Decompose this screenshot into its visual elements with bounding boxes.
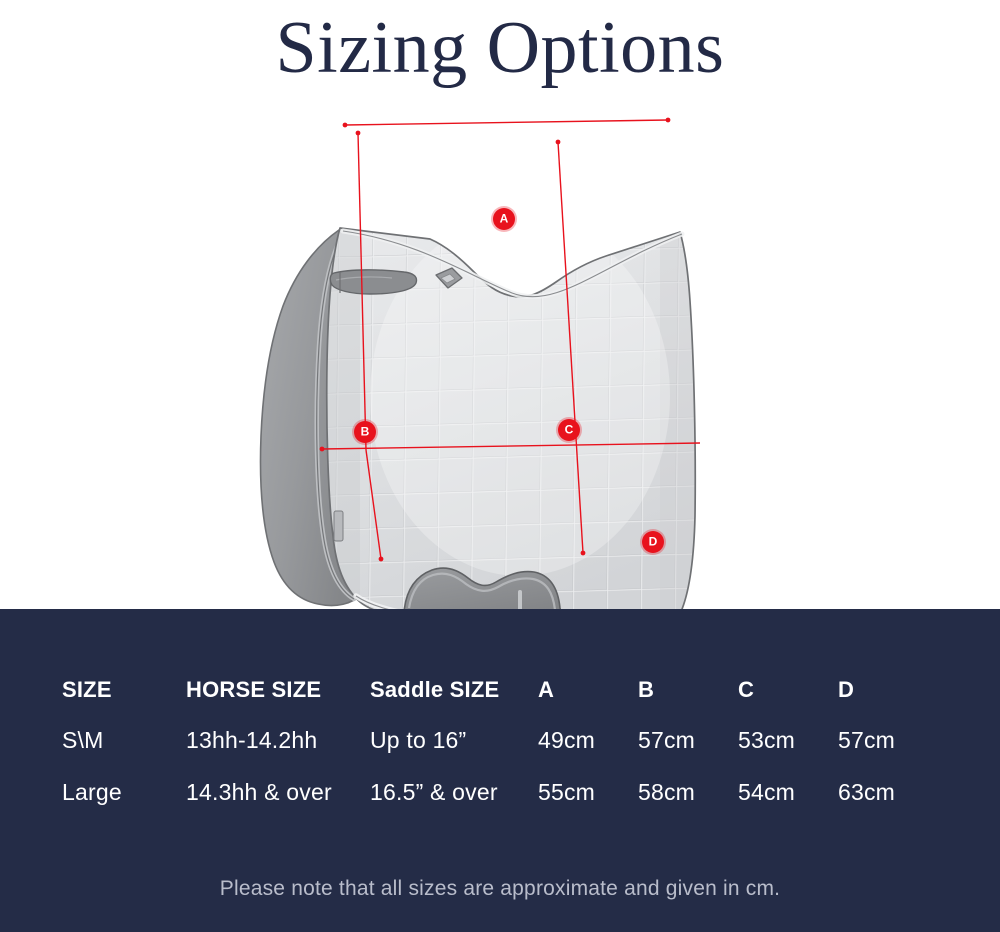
page-title-area: Sizing Options — [0, 0, 1000, 96]
saddle-pad-diagram: A B C D — [0, 96, 1000, 609]
column-header-c: C — [738, 666, 838, 714]
column-header-saddle-size: Saddle SIZE — [370, 666, 538, 714]
measurement-badge-d-label: D — [649, 536, 658, 548]
cell-d-1: 63cm — [838, 766, 938, 818]
cell-horse-size-1: 14.3hh & over — [186, 766, 370, 818]
cell-a-1: 55cm — [538, 766, 638, 818]
sizing-options-page: Sizing Options — [0, 0, 1000, 932]
measurement-badge-a: A — [493, 208, 515, 230]
cell-b-0: 57cm — [638, 714, 738, 766]
cell-size-0: S\M — [62, 714, 186, 766]
cell-d-0: 57cm — [838, 714, 938, 766]
cell-a-0: 49cm — [538, 714, 638, 766]
measurement-badge-a-label: A — [500, 213, 509, 225]
table-header-row: SIZE HORSE SIZE Saddle SIZE A B C D — [62, 666, 938, 714]
cell-c-1: 54cm — [738, 766, 838, 818]
page-title: Sizing Options — [276, 8, 725, 88]
measurement-badge-c-label: C — [565, 424, 574, 436]
cell-b-1: 58cm — [638, 766, 738, 818]
cell-saddle-size-1: 16.5” & over — [370, 766, 538, 818]
sizing-footnote: Please note that all sizes are approxima… — [0, 877, 1000, 901]
column-header-a: A — [538, 666, 638, 714]
measurement-line-a — [343, 118, 671, 128]
pad-side-tab — [334, 511, 343, 541]
sizing-table: SIZE HORSE SIZE Saddle SIZE A B C D S\M … — [62, 666, 938, 818]
column-header-horse-size: HORSE SIZE — [186, 666, 370, 714]
cell-horse-size-0: 13hh-14.2hh — [186, 714, 370, 766]
column-header-b: B — [638, 666, 738, 714]
column-header-d: D — [838, 666, 938, 714]
measurement-badge-c: C — [558, 419, 580, 441]
column-header-size: SIZE — [62, 666, 186, 714]
cell-size-1: Large — [62, 766, 186, 818]
measurement-badge-d: D — [642, 531, 664, 553]
cell-c-0: 53cm — [738, 714, 838, 766]
table-row: S\M 13hh-14.2hh Up to 16” 49cm 57cm 53cm… — [62, 714, 938, 766]
measurement-badge-b: B — [354, 421, 376, 443]
pad-girth-keeper — [330, 270, 416, 294]
cell-saddle-size-0: Up to 16” — [370, 714, 538, 766]
measurement-badge-b-label: B — [361, 426, 370, 438]
saddle-pad-illustration — [0, 96, 1000, 609]
table-row: Large 14.3hh & over 16.5” & over 55cm 58… — [62, 766, 938, 818]
sizing-table-panel: SIZE HORSE SIZE Saddle SIZE A B C D S\M … — [0, 609, 1000, 932]
